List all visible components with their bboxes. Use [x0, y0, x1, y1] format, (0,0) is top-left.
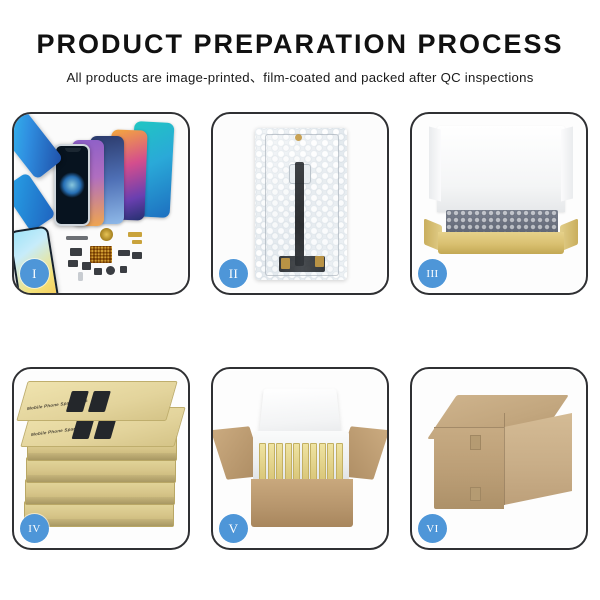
yellow-box	[327, 443, 334, 481]
step-badge: V	[219, 514, 248, 543]
products-scene: I	[14, 114, 188, 293]
part-gold-flex-2	[132, 240, 142, 244]
gold-contact-top	[295, 134, 302, 141]
carton-tape-lower	[470, 487, 481, 501]
product-preparation-infographic: PRODUCT PREPARATION PROCESS All products…	[0, 0, 600, 600]
panel-sealed-carton: VI	[410, 367, 588, 550]
yellow-box	[268, 443, 275, 481]
stacked-boxes-scene: Mobile Phone Spare Parts Mobile Phone Sp…	[14, 369, 188, 548]
box-stack: Mobile Phone Spare Parts Mobile Phone Sp…	[20, 383, 186, 533]
carton-seam-top	[434, 427, 504, 428]
carton-tape-upper	[470, 435, 481, 450]
page-title: PRODUCT PREPARATION PROCESS	[0, 30, 600, 58]
inner-box-scene: III	[412, 114, 586, 293]
yellow-box	[336, 443, 343, 481]
step-badge: II	[219, 259, 248, 288]
carton-corner-edge	[504, 413, 505, 505]
step-badge: IV	[20, 514, 49, 543]
panel-stacked-boxes: Mobile Phone Spare Parts Mobile Phone Sp…	[12, 367, 190, 550]
yellow-box	[276, 443, 283, 481]
part-chip-f	[132, 252, 142, 259]
gold-contact-left	[281, 258, 290, 269]
page-subtitle: All products are image-printed、film-coat…	[0, 67, 600, 86]
carton-front-face	[434, 427, 504, 509]
part-chip-d	[94, 268, 102, 275]
header: PRODUCT PREPARATION PROCESS All products…	[0, 0, 600, 86]
yellow-box	[302, 443, 309, 481]
carton-side-face	[504, 413, 572, 505]
box-art-swatch	[72, 418, 95, 439]
foam-carton-scene: V	[213, 369, 387, 548]
panel-bubble-wrap: II	[211, 112, 389, 295]
box-art-swatch	[94, 418, 117, 439]
part-chip-e	[118, 250, 130, 256]
yellow-box	[310, 443, 317, 481]
panel-inner-box: III	[410, 112, 588, 295]
panel-foam-carton: V	[211, 367, 389, 550]
box-art-swatch	[66, 391, 89, 412]
yellow-box	[285, 443, 292, 481]
sealed-carton-scene: VI	[412, 369, 586, 548]
stacked-box-top-rear: Mobile Phone Spare Parts	[16, 381, 177, 421]
part-gold-flex	[128, 232, 142, 237]
part-coil	[100, 228, 113, 241]
yellow-box	[293, 443, 300, 481]
inner-box-kraft-front	[438, 232, 564, 254]
part-button	[78, 272, 83, 281]
screen-flex-cable	[295, 162, 304, 266]
part-speaker	[106, 266, 115, 275]
bubble-wrap-bag	[255, 128, 347, 280]
step-badge: VI	[418, 514, 447, 543]
shipping-carton-body	[251, 479, 353, 527]
part-strip	[66, 236, 88, 240]
step-badge: III	[418, 259, 447, 288]
process-grid: I II	[12, 112, 588, 550]
part-chip-c	[82, 262, 91, 270]
bubble-wrap-scene: II	[213, 114, 387, 293]
gold-contact-right	[315, 256, 324, 267]
step-badge: I	[20, 259, 49, 288]
box-art-swatch	[88, 391, 111, 412]
part-chip-a	[70, 248, 82, 256]
part-connector-grid	[90, 246, 112, 263]
panel-products: I	[12, 112, 190, 295]
spare-parts-cluster	[66, 226, 170, 284]
inner-box-white-lid	[437, 126, 565, 212]
yellow-boxes-row	[259, 441, 343, 481]
yellow-box	[319, 443, 326, 481]
screen-protector-blue-2	[14, 172, 56, 232]
part-chip-g	[120, 266, 127, 273]
part-chip-b	[68, 260, 78, 267]
yellow-box	[259, 443, 266, 481]
